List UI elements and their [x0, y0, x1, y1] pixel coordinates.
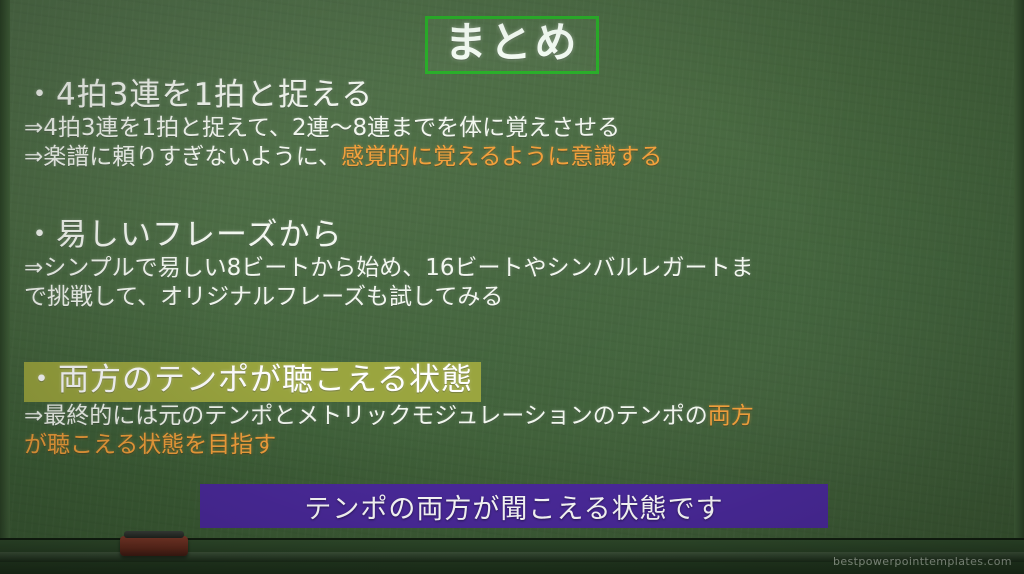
title-box: まとめ	[425, 16, 598, 74]
section-2: ・易しいフレーズから ⇒シンプルで易しい8ビートから始め、16ビートやシンバルレ…	[24, 218, 1008, 313]
eraser	[120, 536, 188, 556]
section-3-line-1-part-1: ⇒最終的には元のテンポとメトリックモジュレーションのテンポの	[24, 403, 708, 429]
section-3-line-1-part-2: 両方	[708, 403, 754, 429]
section-2-heading: ・易しいフレーズから	[24, 218, 1008, 254]
section-1-line-2: ⇒楽譜に頼りすぎないように、感覚的に覚えるように意識する	[24, 143, 1008, 172]
section-3: ・両方のテンポが聴こえる状態 ⇒最終的には元のテンポとメトリックモジュレーション…	[24, 362, 1008, 461]
section-1-line-2-part-2: 感覚的に覚えるように意識する	[341, 144, 662, 170]
caption-text: テンポの両方が聞こえる状態です	[304, 487, 723, 526]
title-container: まとめ	[0, 16, 1024, 74]
section-1-heading: ・4拍3連を1拍と捉える	[24, 78, 1008, 114]
section-1: ・4拍3連を1拍と捉える ⇒4拍3連を1拍と捉えて、2連〜8連までを体に覚えさせ…	[24, 78, 1008, 173]
chalkboard-slide: まとめ ・4拍3連を1拍と捉える ⇒4拍3連を1拍と捉えて、2連〜8連までを体に…	[0, 0, 1024, 574]
page-title: まとめ	[444, 21, 579, 65]
caption-bar: テンポの両方が聞こえる状態です	[200, 484, 828, 528]
section-1-line-2-part-1: ⇒楽譜に頼りすぎないように、	[24, 144, 341, 170]
section-3-line-2: が聴こえる状態を目指す	[24, 431, 1008, 460]
slide-content: まとめ ・4拍3連を1拍と捉える ⇒4拍3連を1拍と捉えて、2連〜8連までを体に…	[0, 0, 1024, 574]
section-3-heading-row: ・両方のテンポが聴こえる状態	[24, 362, 1008, 402]
section-3-line-1: ⇒最終的には元のテンポとメトリックモジュレーションのテンポの両方	[24, 402, 1008, 431]
section-2-line-2: で挑戦して、オリジナルフレーズも試してみる	[24, 283, 1008, 312]
section-3-heading: ・両方のテンポが聴こえる状態	[24, 362, 481, 402]
watermark: bestpowerpointtemplates.com	[833, 555, 1012, 568]
section-2-line-1: ⇒シンプルで易しい8ビートから始め、16ビートやシンバルレガートま	[24, 254, 1008, 283]
section-1-line-1: ⇒4拍3連を1拍と捉えて、2連〜8連までを体に覚えさせる	[24, 114, 1008, 143]
